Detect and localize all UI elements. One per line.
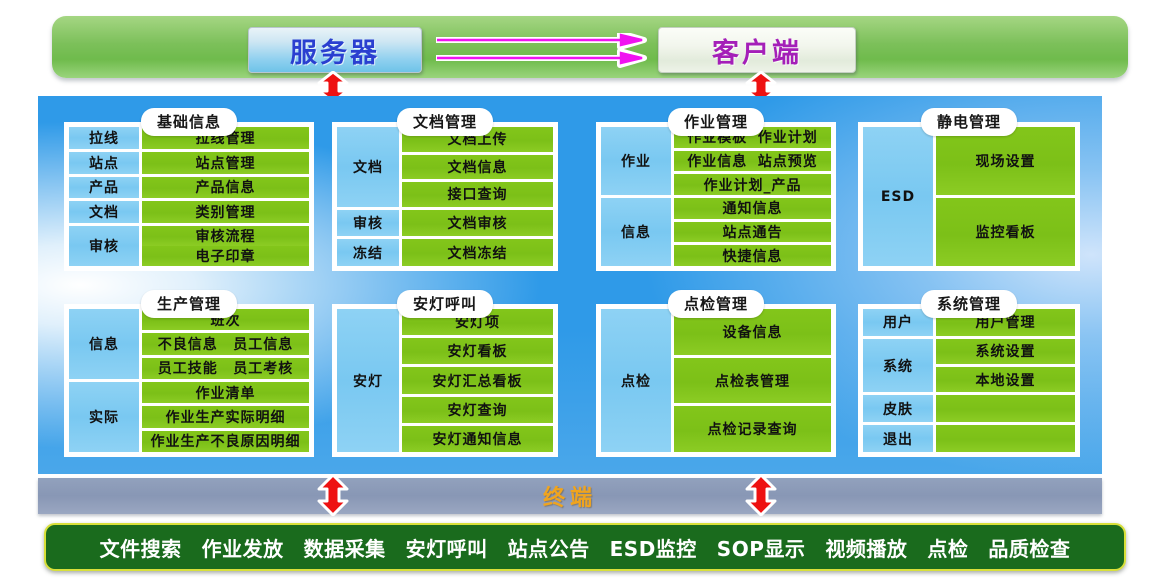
menu-item-label: 本地设置 <box>976 370 1036 390</box>
group-label: 实际 <box>69 382 139 452</box>
menu-item[interactable]: 作业生产不良原因明细 <box>142 431 309 452</box>
group-row: 系统 系统设置 本地设置 <box>863 339 1075 393</box>
menu-item[interactable]: 文档冻结 <box>402 239 553 266</box>
group-items: 设备信息 点检表管理 点检记录查询 <box>674 309 831 452</box>
group-row: 退出 <box>863 425 1075 452</box>
menu-item[interactable] <box>936 395 1075 422</box>
group-label: 信息 <box>601 198 671 266</box>
group-items: 文档上传 文档信息 接口查询 <box>402 127 553 207</box>
client-label: 客户端 <box>712 31 802 70</box>
module-body: 信息 班次 不良信息 员工信息 员工技能 员工考核 实际 作业清单 <box>64 304 314 457</box>
group-label: 冻结 <box>337 239 399 266</box>
menu-item-label: 文档审核 <box>448 213 508 233</box>
module-title: 生产管理 <box>141 290 237 318</box>
menu-item[interactable] <box>936 425 1075 452</box>
module-title: 基础信息 <box>141 108 237 136</box>
menu-item-label: 类别管理 <box>196 202 256 222</box>
group-row: 冻结 文档冻结 <box>337 239 553 266</box>
menu-item-label: 安灯看板 <box>448 341 508 361</box>
menu-item[interactable]: 站点通告 <box>674 222 831 243</box>
menu-item-label: 产品信息 <box>196 177 256 197</box>
module-job-mgmt: 作业管理 作业 作业模板 作业计划 作业信息 站点预览 作业计划_产品 信息 <box>596 108 836 271</box>
group-row: 信息 通知信息 站点通告 快捷信息 <box>601 198 831 266</box>
menu-item-label: 安灯查询 <box>448 400 508 420</box>
terminal-fn-inspection[interactable]: 点检 <box>927 533 968 562</box>
group-label: 拉线 <box>69 127 139 149</box>
function-modules-panel: 基础信息 拉线 拉线管理 站点 站点管理 产品 产品信息 文 <box>38 96 1102 474</box>
menu-item-label: 作业生产不良原因明细 <box>151 431 301 451</box>
group-items: 安灯项 安灯看板 安灯汇总看板 安灯查询 安灯通知信息 <box>402 309 553 452</box>
menu-item-label: 员工技能 <box>158 358 218 378</box>
menu-item[interactable]: 系统设置 <box>936 339 1075 364</box>
group-row: 点检 设备信息 点检表管理 点检记录查询 <box>601 309 831 452</box>
terminal-fn-data-collect[interactable]: 数据采集 <box>304 533 386 562</box>
terminal-fn-job-release[interactable]: 作业发放 <box>202 533 284 562</box>
group-items: 作业模板 作业计划 作业信息 站点预览 作业计划_产品 <box>674 127 831 195</box>
menu-item[interactable]: 类别管理 <box>142 201 309 223</box>
group-label: 站点 <box>69 152 139 174</box>
menu-item-label: 员工考核 <box>233 358 293 378</box>
group-row: 产品 产品信息 <box>69 177 309 199</box>
group-items <box>936 425 1075 452</box>
server-box[interactable]: 服务器 <box>248 27 422 73</box>
module-inspection-mgmt: 点检管理 点检 设备信息 点检表管理 点检记录查询 <box>596 290 836 457</box>
module-basic-info: 基础信息 拉线 拉线管理 站点 站点管理 产品 产品信息 文 <box>64 108 314 271</box>
terminal-fn-quality-check[interactable]: 品质检查 <box>988 533 1070 562</box>
terminal-fn-site-notice[interactable]: 站点公告 <box>508 533 590 562</box>
group-row: 安灯 安灯项 安灯看板 安灯汇总看板 安灯查询 安灯通知信息 <box>337 309 553 452</box>
group-row: 审核 文档审核 <box>337 210 553 237</box>
menu-item-label: 站点管理 <box>196 153 256 173</box>
group-label: 审核 <box>69 226 139 266</box>
menu-item[interactable]: 文档信息 <box>402 155 553 180</box>
terminal-bar: 终端 <box>38 478 1102 514</box>
terminal-fn-andon-call[interactable]: 安灯呼叫 <box>406 533 488 562</box>
module-title: 作业管理 <box>668 108 764 136</box>
group-items: 通知信息 站点通告 快捷信息 <box>674 198 831 266</box>
group-items: 文档冻结 <box>402 239 553 266</box>
menu-item[interactable]: 安灯通知信息 <box>402 426 553 452</box>
menu-item[interactable]: 产品信息 <box>142 177 309 199</box>
menu-item[interactable]: 作业清单 <box>142 382 309 403</box>
menu-item[interactable]: 作业生产实际明细 <box>142 406 309 427</box>
menu-item-label: 电子印章 <box>196 246 256 266</box>
module-body: 拉线 拉线管理 站点 站点管理 产品 产品信息 文档 类别管理 <box>64 122 314 271</box>
group-items <box>936 395 1075 422</box>
group-items: 班次 不良信息 员工信息 员工技能 员工考核 <box>142 309 309 379</box>
module-body: 点检 设备信息 点检表管理 点检记录查询 <box>596 304 836 457</box>
menu-item-label: 安灯通知信息 <box>433 429 523 449</box>
module-title: 文档管理 <box>397 108 493 136</box>
menu-item-label: 站点预览 <box>758 151 818 171</box>
group-items: 审核流程 电子印章 <box>142 226 309 266</box>
group-items: 产品信息 <box>142 177 309 199</box>
group-row: 皮肤 <box>863 395 1075 422</box>
menu-item-label: 快捷信息 <box>723 246 783 266</box>
menu-item[interactable]: 员工技能 员工考核 <box>142 358 309 379</box>
group-label: ESD <box>863 127 933 266</box>
module-body: 文档 文档上传 文档信息 接口查询 审核 文档审核 冻结 文档冻结 <box>332 122 558 271</box>
menu-item[interactable]: 站点管理 <box>142 152 309 174</box>
group-row: 作业 作业模板 作业计划 作业信息 站点预览 作业计划_产品 <box>601 127 831 195</box>
menu-item[interactable]: 电子印章 <box>142 246 309 266</box>
module-system-mgmt: 系统管理 用户 用户管理 系统 系统设置 本地设置 皮肤 <box>858 290 1080 457</box>
panel-terminal-link-arrow-right <box>737 474 785 516</box>
module-body: ESD 现场设置 监控看板 <box>858 122 1080 271</box>
menu-item-label: 不良信息 <box>158 334 218 354</box>
module-title: 安灯呼叫 <box>397 290 493 318</box>
menu-item[interactable]: 点检表管理 <box>674 358 831 404</box>
group-items: 文档审核 <box>402 210 553 237</box>
menu-item[interactable]: 不良信息 员工信息 <box>142 333 309 354</box>
group-row: 信息 班次 不良信息 员工信息 员工技能 员工考核 <box>69 309 309 379</box>
group-label: 文档 <box>69 201 139 223</box>
module-body: 安灯 安灯项 安灯看板 安灯汇总看板 安灯查询 安灯通知信息 <box>332 304 558 457</box>
menu-item[interactable]: 点检记录查询 <box>674 406 831 452</box>
menu-item[interactable]: 作业信息 站点预览 <box>674 151 831 172</box>
menu-item[interactable]: 文档审核 <box>402 210 553 237</box>
terminal-fn-sop-display[interactable]: SOP显示 <box>717 533 806 562</box>
terminal-fn-file-search[interactable]: 文件搜索 <box>100 533 182 562</box>
menu-item-label: 文档冻结 <box>448 243 508 263</box>
menu-item[interactable]: 接口查询 <box>402 182 553 207</box>
group-label: 用户 <box>863 309 933 336</box>
menu-item[interactable]: 安灯查询 <box>402 397 553 423</box>
group-row: ESD 现场设置 监控看板 <box>863 127 1075 266</box>
terminal-function-bar: 文件搜索 作业发放 数据采集 安灯呼叫 站点公告 ESD监控 SOP显示 视频播… <box>44 523 1126 571</box>
menu-item-label: 安灯汇总看板 <box>433 371 523 391</box>
menu-item-label: 站点通告 <box>723 222 783 242</box>
menu-item-label: 审核流程 <box>196 226 256 246</box>
group-row: 文档 类别管理 <box>69 201 309 223</box>
menu-item-label: 点检记录查询 <box>708 419 798 439</box>
group-label: 点检 <box>601 309 671 452</box>
terminal-fn-esd-monitor[interactable]: ESD监控 <box>610 533 697 562</box>
module-body: 作业 作业模板 作业计划 作业信息 站点预览 作业计划_产品 信息 通知信息 <box>596 122 836 271</box>
group-items: 站点管理 <box>142 152 309 174</box>
group-row: 文档 文档上传 文档信息 接口查询 <box>337 127 553 207</box>
menu-item-label: 作业生产实际明细 <box>166 407 286 427</box>
menu-item-label: 作业计划_产品 <box>704 175 802 195</box>
group-label: 审核 <box>337 210 399 237</box>
menu-item-label: 监控看板 <box>976 222 1036 242</box>
module-title: 静电管理 <box>921 108 1017 136</box>
group-label: 系统 <box>863 339 933 393</box>
group-label: 作业 <box>601 127 671 195</box>
group-label: 文档 <box>337 127 399 207</box>
menu-item[interactable]: 本地设置 <box>936 367 1075 392</box>
group-items: 现场设置 监控看板 <box>936 127 1075 266</box>
menu-item-label: 设备信息 <box>723 322 783 342</box>
module-body: 用户 用户管理 系统 系统设置 本地设置 皮肤 退出 <box>858 304 1080 457</box>
menu-item-label: 作业计划 <box>758 127 818 147</box>
group-row: 实际 作业清单 作业生产实际明细 作业生产不良原因明细 <box>69 382 309 452</box>
menu-item-label: 点检表管理 <box>715 371 790 391</box>
menu-item-label: 通知信息 <box>723 198 783 218</box>
module-document-mgmt: 文档管理 文档 文档上传 文档信息 接口查询 审核 文档审核 冻结 文档冻结 <box>332 108 558 271</box>
menu-item[interactable]: 作业计划_产品 <box>674 174 831 195</box>
group-items: 类别管理 <box>142 201 309 223</box>
menu-item[interactable]: 监控看板 <box>936 198 1075 266</box>
panel-terminal-link-arrow-left <box>309 474 357 516</box>
terminal-fn-video-play[interactable]: 视频播放 <box>825 533 907 562</box>
terminal-label: 终端 <box>543 480 597 512</box>
menu-item-label: 作业信息 <box>687 151 747 171</box>
menu-item-label: 作业清单 <box>196 383 256 403</box>
group-label: 皮肤 <box>863 395 933 422</box>
menu-item[interactable]: 审核流程 <box>142 226 309 246</box>
group-label: 安灯 <box>337 309 399 452</box>
group-row: 站点 站点管理 <box>69 152 309 174</box>
module-title: 系统管理 <box>921 290 1017 318</box>
menu-item[interactable]: 安灯汇总看板 <box>402 367 553 393</box>
menu-item-label: 员工信息 <box>233 334 293 354</box>
server-to-client-arrows <box>434 33 650 69</box>
server-label: 服务器 <box>290 31 380 70</box>
client-box[interactable]: 客户端 <box>658 27 856 73</box>
menu-item-label: 文档信息 <box>448 157 508 177</box>
group-label: 信息 <box>69 309 139 379</box>
group-items: 作业清单 作业生产实际明细 作业生产不良原因明细 <box>142 382 309 452</box>
module-production-mgmt: 生产管理 信息 班次 不良信息 员工信息 员工技能 员工考核 实际 <box>64 290 314 457</box>
menu-item[interactable]: 安灯看板 <box>402 338 553 364</box>
menu-item-label: 系统设置 <box>976 341 1036 361</box>
menu-item[interactable]: 快捷信息 <box>674 245 831 266</box>
group-row: 审核 审核流程 电子印章 <box>69 226 309 266</box>
group-items: 系统设置 本地设置 <box>936 339 1075 393</box>
menu-item-label: 接口查询 <box>448 184 508 204</box>
module-title: 点检管理 <box>668 290 764 318</box>
group-label: 退出 <box>863 425 933 452</box>
menu-item-label: 现场设置 <box>976 151 1036 171</box>
module-esd-mgmt: 静电管理 ESD 现场设置 监控看板 <box>858 108 1080 271</box>
menu-item[interactable]: 通知信息 <box>674 198 831 219</box>
module-andon-call: 安灯呼叫 安灯 安灯项 安灯看板 安灯汇总看板 安灯查询 安灯通知信息 <box>332 290 558 457</box>
group-label: 产品 <box>69 177 139 199</box>
menu-item[interactable]: 现场设置 <box>936 127 1075 195</box>
